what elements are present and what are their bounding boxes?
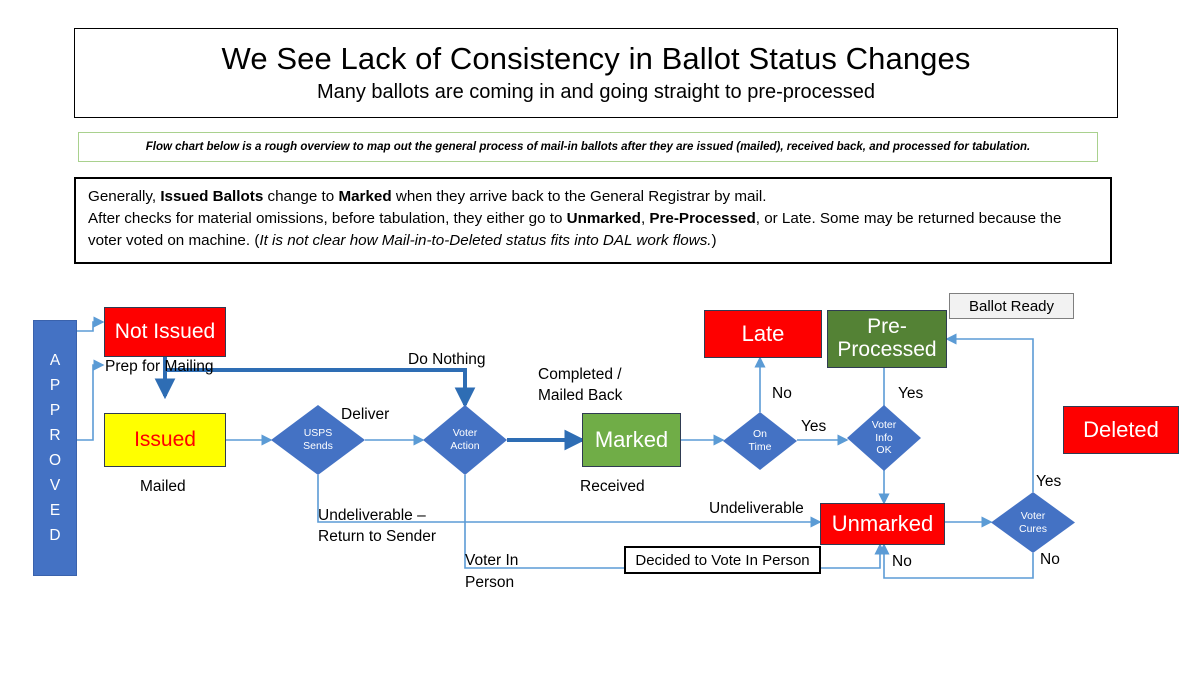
edge-label-do-nothing: Do Nothing xyxy=(408,351,486,369)
node-deleted[interactable]: Deleted xyxy=(1063,406,1179,454)
caption-mailed: Mailed xyxy=(140,478,186,496)
node-issued[interactable]: Issued xyxy=(104,413,226,467)
edge-label-no-unmarked: No xyxy=(892,553,912,571)
node-on-time[interactable]: On Time xyxy=(723,412,797,470)
approved-letter: V xyxy=(50,473,60,498)
edge-label-yes-voter-info: Yes xyxy=(898,385,923,403)
callout-ballot-ready[interactable]: Ballot Ready xyxy=(949,293,1074,319)
node-unmarked[interactable]: Unmarked xyxy=(820,503,945,545)
node-late[interactable]: Late xyxy=(704,310,822,358)
callout-label: Ballot Ready xyxy=(969,298,1054,315)
node-label: USPS Sends xyxy=(271,405,365,475)
approved-letter: P xyxy=(50,373,60,398)
edge-label-completed-mailed-2: Mailed Back xyxy=(538,387,622,405)
node-voter-cures[interactable]: Voter Cures xyxy=(991,492,1075,553)
approved-letter: E xyxy=(50,498,60,523)
node-not-issued[interactable]: Not Issued xyxy=(104,307,226,357)
approved-letter: P xyxy=(50,398,60,423)
node-marked[interactable]: Marked xyxy=(582,413,681,467)
node-voter-action[interactable]: Voter Action xyxy=(423,405,507,475)
node-label: Voter Cures xyxy=(991,492,1075,553)
caption-prep-for-mailing: Prep for Mailing xyxy=(105,358,214,376)
node-label: Marked xyxy=(595,428,668,452)
edge-label-yes-voter-cures: Yes xyxy=(1036,473,1061,491)
edge-label-voter-in-person-2: Person xyxy=(465,574,514,592)
edge-label-no-voter-cures: No xyxy=(1040,551,1060,569)
edge-label-no-late: No xyxy=(772,385,792,403)
node-label: Late xyxy=(742,322,785,346)
node-label: Unmarked xyxy=(832,512,933,536)
node-pre-processed[interactable]: Pre- Processed xyxy=(827,310,947,368)
node-usps-sends[interactable]: USPS Sends xyxy=(271,405,365,475)
approved-letter: R xyxy=(49,423,60,448)
approved-letter: O xyxy=(49,448,61,473)
edge-label-voter-in-person-1: Voter In xyxy=(465,552,518,570)
node-label: Pre- xyxy=(867,316,907,339)
node-label: On Time xyxy=(723,412,797,470)
callout-label: Decided to Vote In Person xyxy=(635,552,809,569)
approved-letter: D xyxy=(49,523,60,548)
callout-decided-in-person[interactable]: Decided to Vote In Person xyxy=(624,546,821,574)
edge-label-yes-on-time: Yes xyxy=(801,418,826,436)
edge-label-undeliverable: Undeliverable xyxy=(709,500,804,518)
node-label: Deleted xyxy=(1083,418,1159,442)
node-label: Issued xyxy=(134,429,196,452)
node-approved[interactable]: A P P R O V E D xyxy=(33,320,77,576)
node-label: Voter Info OK xyxy=(847,405,921,471)
node-label: Processed xyxy=(837,339,936,362)
slide-canvas: We See Lack of Consistency in Ballot Sta… xyxy=(0,0,1200,675)
node-label: Not Issued xyxy=(115,321,215,344)
node-label: Voter Action xyxy=(423,405,507,475)
edge-label-undeliverable-return-1: Undeliverable – xyxy=(318,507,426,525)
edge-label-undeliverable-return-2: Return to Sender xyxy=(318,528,436,546)
edge-label-completed-mailed-1: Completed / xyxy=(538,366,622,384)
node-voter-info-ok[interactable]: Voter Info OK xyxy=(847,405,921,471)
caption-received: Received xyxy=(580,478,645,496)
approved-letter: A xyxy=(50,348,60,373)
